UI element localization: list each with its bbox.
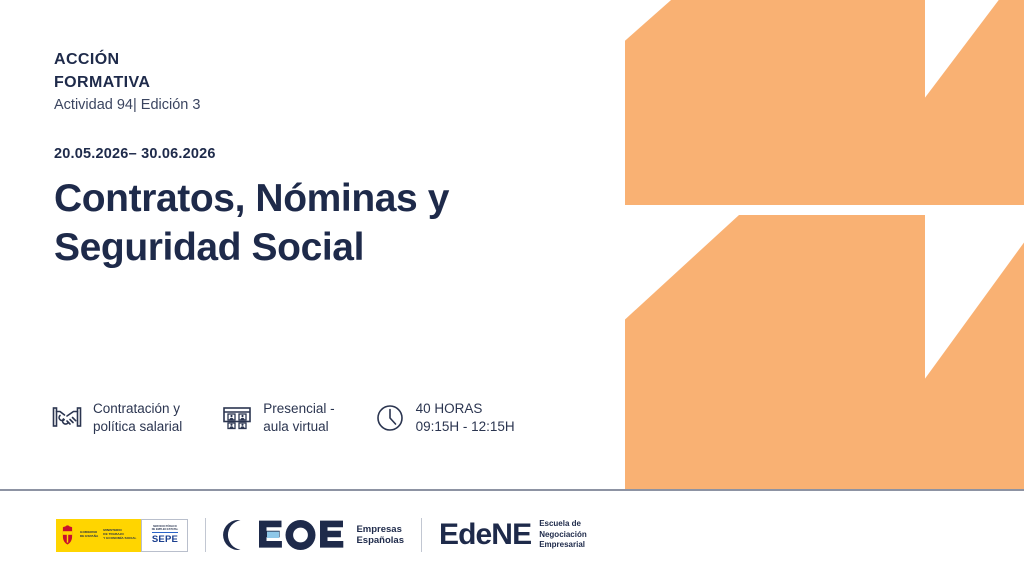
info-modality-label: Presencial - aula virtual	[263, 400, 334, 436]
logo-separator-2	[421, 518, 422, 552]
pattern-shape-top-right	[920, 0, 1024, 205]
info-topic-label: Contratación y política salarial	[93, 400, 182, 436]
sepe-logo: SERVICIO PÚBLICO DE EMPLEO ESTATAL SEPE	[141, 519, 188, 552]
pattern-shape-bottom-right	[920, 215, 1024, 490]
course-poster: ACCIÓN FORMATIVA Actividad 94| Edición 3…	[0, 0, 1024, 576]
course-info-row: Contratación y política salarial Pres	[50, 400, 515, 436]
course-dates: 20.05.2026– 30.06.2026	[54, 146, 574, 162]
pattern-shape-bottom-left	[625, 215, 925, 490]
sepe-wordmark: SEPE	[152, 534, 178, 545]
spain-coat-of-arms-icon	[60, 525, 75, 546]
kicker-line-2: FORMATIVA	[54, 71, 574, 94]
page-title: Contratos, Nóminas y Seguridad Social	[54, 174, 614, 272]
clock-icon	[373, 401, 407, 435]
footer-divider	[0, 489, 1024, 491]
handshake-icon	[50, 401, 84, 435]
edene-logo: EdeNE Escuela de Negociación Empresarial	[439, 519, 587, 550]
edene-wordmark: EdeNE	[439, 520, 531, 550]
info-duration-label: 40 HORAS 09:15H - 12:15H	[416, 400, 515, 436]
sepe-rule	[152, 532, 178, 533]
ceoe-wordmark-icon	[223, 518, 349, 552]
activity-edition-label: Actividad 94| Edición 3	[54, 95, 574, 117]
header-block: ACCIÓN FORMATIVA Actividad 94| Edición 3…	[54, 48, 574, 162]
geometric-pattern-graphic	[600, 0, 1024, 490]
edene-subtitle: Escuela de Negociación Empresarial	[539, 519, 587, 550]
logo-separator-1	[205, 518, 206, 552]
sepe-subtitle: SERVICIO PÚBLICO DE EMPLEO ESTATAL	[152, 525, 178, 531]
pattern-shape-top-left	[625, 0, 925, 205]
info-item-topic: Contratación y política salarial	[50, 400, 182, 436]
virtual-classroom-icon	[220, 401, 254, 435]
gobierno-text-2: MINISTERIO DE TRABAJO Y ECONOMÍA SOCIAL	[103, 529, 136, 541]
ceoe-logo: Empresas Españolas	[223, 518, 404, 552]
kicker-line-1: ACCIÓN	[54, 48, 574, 71]
footer-logos: GOBIERNO DE ESPAÑA MINISTERIO DE TRABAJO…	[0, 505, 1024, 565]
info-item-modality: Presencial - aula virtual	[220, 400, 334, 436]
gobierno-text-1: GOBIERNO DE ESPAÑA	[80, 531, 98, 539]
ceoe-subtitle: Empresas Españolas	[356, 524, 404, 546]
gobierno-yellow-block: GOBIERNO DE ESPAÑA MINISTERIO DE TRABAJO…	[56, 519, 141, 552]
gobierno-de-espana-logo: GOBIERNO DE ESPAÑA MINISTERIO DE TRABAJO…	[56, 519, 188, 552]
info-item-duration: 40 HORAS 09:15H - 12:15H	[373, 400, 515, 436]
